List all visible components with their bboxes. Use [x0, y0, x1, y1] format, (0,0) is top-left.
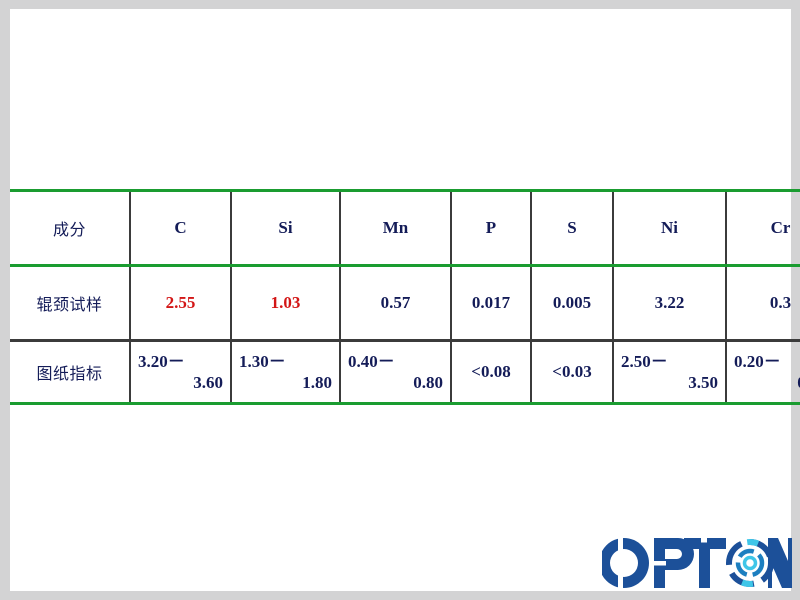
row-label-sample: 辊颈试样: [10, 266, 130, 341]
header-cell-ni: Ni: [613, 191, 726, 266]
cell-spec-cr: 0.20－ 0.50: [726, 341, 800, 404]
table-row-spec: 图纸指标 3.20－ 3.60 1.30－ 1.80: [10, 341, 800, 404]
range-cr: 0.20－ 0.50: [734, 351, 800, 393]
cell-sample-si: 1.03: [231, 266, 340, 341]
logo-ring-o-icon: [729, 542, 771, 584]
cell-spec-ni: 2.50－ 3.50: [613, 341, 726, 404]
logo-letter-n: [768, 538, 792, 588]
header-cell-c: C: [130, 191, 231, 266]
cell-spec-mn: 0.40－ 0.80: [340, 341, 451, 404]
cell-spec-s: <0.03: [531, 341, 613, 404]
header-cell-cr: Cr: [726, 191, 800, 266]
row-label-spec: 图纸指标: [10, 341, 130, 404]
table-header-row: 成分 C Si Mn P S Ni Cr Mo: [10, 191, 800, 266]
logo-letter-o: [602, 537, 649, 589]
range-si: 1.30－ 1.80: [239, 351, 332, 393]
cell-sample-ni: 3.22: [613, 266, 726, 341]
opton-logo: [602, 537, 792, 589]
range-ni: 2.50－ 3.50: [621, 351, 718, 393]
header-cell-s: S: [531, 191, 613, 266]
header-cell-mn: Mn: [340, 191, 451, 266]
cell-spec-c: 3.20－ 3.60: [130, 341, 231, 404]
table-row-sample: 辊颈试样 2.55 1.03 0.57 0.017 0.005 3.22 0.3…: [10, 266, 800, 341]
cell-spec-p: <0.08: [451, 341, 531, 404]
slide-frame: 成分 C Si Mn P S Ni Cr Mo 辊颈试样 2.55 1.03 0…: [0, 0, 800, 600]
cell-spec-si: 1.30－ 1.80: [231, 341, 340, 404]
cell-sample-s: 0.005: [531, 266, 613, 341]
cell-sample-cr: 0.3: [726, 266, 800, 341]
slide-page: 成分 C Si Mn P S Ni Cr Mo 辊颈试样 2.55 1.03 0…: [10, 9, 791, 591]
cell-sample-c: 2.55: [130, 266, 231, 341]
range-mn: 0.40－ 0.80: [348, 351, 443, 393]
cell-sample-mn: 0.57: [340, 266, 451, 341]
header-cell-composition: 成分: [10, 191, 130, 266]
range-c: 3.20－ 3.60: [138, 351, 223, 393]
header-cell-p: P: [451, 191, 531, 266]
header-cell-si: Si: [231, 191, 340, 266]
cell-sample-p: 0.017: [451, 266, 531, 341]
chemical-composition-table: 成分 C Si Mn P S Ni Cr Mo 辊颈试样 2.55 1.03 0…: [10, 189, 800, 405]
